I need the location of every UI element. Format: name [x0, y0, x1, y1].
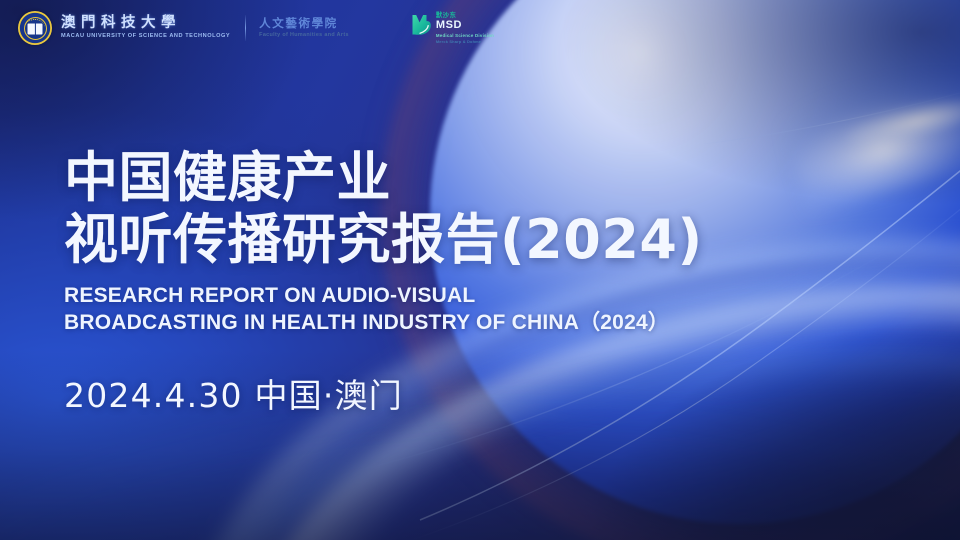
sponsor-subtitle-secondary: Merck Sharp & Dohme: [436, 40, 494, 44]
sponsor-text-block: 默沙东 MSD Medical Science Division Merck S…: [436, 12, 494, 43]
title-en-line2: BROADCASTING IN HEALTH INDUSTRY OF CHINA…: [64, 310, 703, 336]
msd-leaf-icon: [411, 13, 432, 36]
title-cn-line2: 视听传播研究报告(2024): [64, 210, 703, 270]
hero-title-block: 中国健康产业 视听传播研究报告(2024) RESEARCH REPORT ON…: [64, 148, 703, 417]
title-cn-line1: 中国健康产业: [64, 148, 703, 208]
sponsor-abbr: MSD: [436, 20, 494, 31]
date-location: 2024.4.30 中国·澳门: [64, 369, 703, 417]
seal-book-icon: [28, 23, 43, 34]
logo-bar: 澳門科技大學 MACAU UNIVERSITY OF SCIENCE AND T…: [18, 9, 494, 47]
university-seal-icon: [18, 11, 52, 45]
university-name-en: MACAU UNIVERSITY OF SCIENCE AND TECHNOLO…: [61, 34, 230, 40]
presentation-cover-slide: 澳門科技大學 MACAU UNIVERSITY OF SCIENCE AND T…: [0, 0, 960, 540]
university-name-cn: 澳門科技大學: [61, 16, 230, 31]
faculty-name-cn: 人文藝術學院: [259, 18, 349, 30]
faculty-name-block: 人文藝術學院 Faculty of Humanities and Arts: [259, 18, 349, 38]
sponsor-name-cn: 默沙东: [436, 12, 494, 18]
sponsor-logo: 默沙东 MSD Medical Science Division Merck S…: [411, 12, 494, 43]
logo-divider: [245, 15, 246, 41]
title-en-line1: RESEARCH REPORT ON AUDIO-VISUAL: [64, 283, 703, 309]
sponsor-subtitle: Medical Science Division: [436, 34, 494, 38]
faculty-name-en: Faculty of Humanities and Arts: [259, 33, 349, 38]
university-name-block: 澳門科技大學 MACAU UNIVERSITY OF SCIENCE AND T…: [61, 16, 230, 40]
